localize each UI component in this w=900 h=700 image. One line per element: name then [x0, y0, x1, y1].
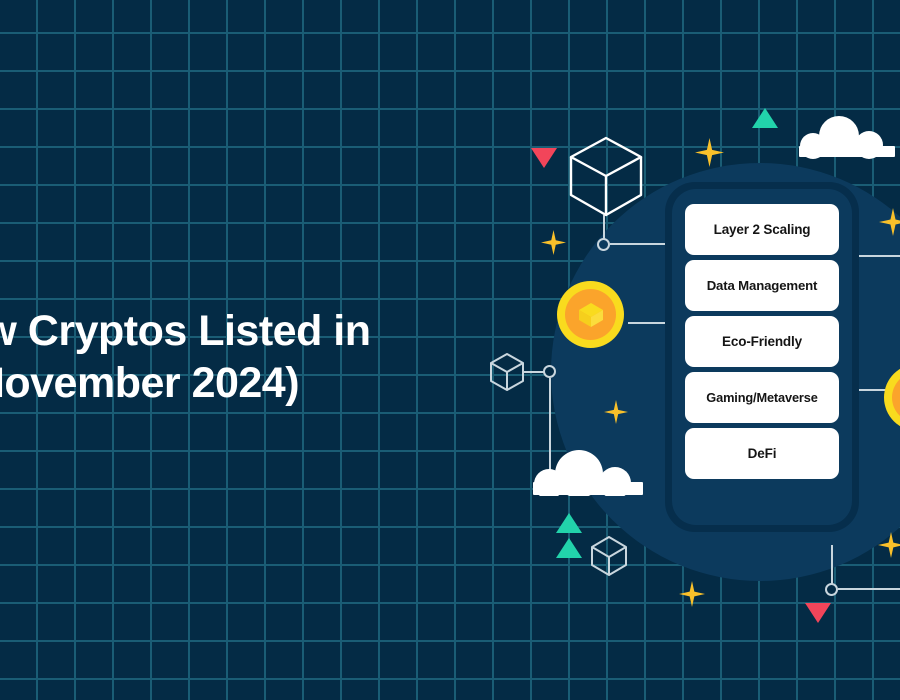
- connector-line-bottom-right: [838, 588, 900, 590]
- cloud-icon-top: [793, 116, 900, 160]
- feature-card-eco-friendly[interactable]: Eco-Friendly: [685, 316, 839, 367]
- banner-title-line-1: ew Cryptos Listed in: [0, 307, 371, 355]
- feature-card-defi[interactable]: DeFi: [685, 428, 839, 479]
- triangle-down-icon-2: [805, 603, 831, 623]
- triangle-up-icon-3: [556, 538, 582, 558]
- feature-card-data-management[interactable]: Data Management: [685, 260, 839, 311]
- wireframe-cube-icon-large: [568, 135, 644, 219]
- coin-cube-icon: [576, 300, 606, 330]
- feature-card-layer-2-scaling[interactable]: Layer 2 Scaling: [685, 204, 839, 255]
- coin-left: [557, 281, 624, 348]
- feature-card-gaming-metaverse[interactable]: Gaming/Metaverse: [685, 372, 839, 423]
- connector-node-bottom: [825, 583, 838, 596]
- cloud-icon-bottom: [527, 450, 649, 496]
- triangle-up-icon-2: [556, 513, 582, 533]
- connector-node-left: [543, 365, 556, 378]
- feature-list-inner: Layer 2 Scaling Data Management Eco-Frie…: [672, 189, 852, 525]
- wireframe-cube-icon-small-left: [489, 352, 525, 392]
- triangle-up-icon-1: [752, 108, 778, 128]
- connector-node-top-left: [597, 238, 610, 251]
- coin-left-inner: [565, 289, 616, 340]
- feature-list-frame: Layer 2 Scaling Data Management Eco-Frie…: [665, 182, 859, 532]
- coin-right-inner: [892, 372, 900, 423]
- wireframe-cube-icon-small-bottom: [590, 535, 628, 577]
- connector-line-to-card-1: [610, 243, 668, 245]
- banner-canvas: Layer 2 Scaling Data Management Eco-Frie…: [0, 0, 900, 700]
- banner-title-line-2: (November 2024): [0, 357, 520, 409]
- triangle-down-icon-1: [531, 148, 557, 168]
- banner-title: ew Cryptos Listed in (November 2024): [0, 305, 520, 410]
